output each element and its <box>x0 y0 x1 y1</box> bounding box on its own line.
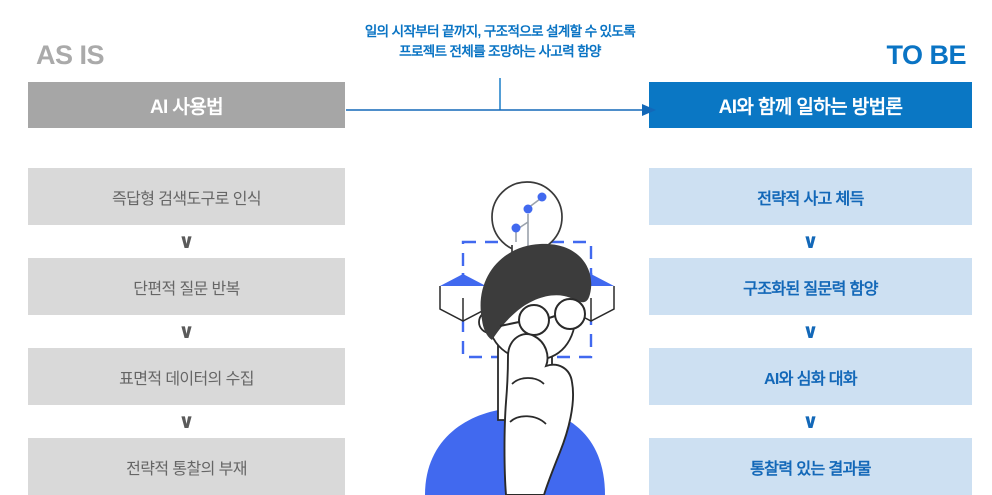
as-is-item-1: 즉답형 검색도구로 인식 <box>28 168 345 225</box>
as-is-flow-column: 즉답형 검색도구로 인식 ∨ 단편적 질문 반복 ∨ 표면적 데이터의 수집 ∨… <box>28 168 345 495</box>
to-be-flow-column: 전략적 사고 체득 ∨ 구조화된 질문력 함양 ∨ AI와 심화 대화 ∨ 통찰… <box>649 168 972 495</box>
to-be-header-bar: AI와 함께 일하는 방법론 <box>649 82 972 128</box>
as-is-item-4: 전략적 통찰의 부재 <box>28 438 345 495</box>
to-be-item-4: 통찰력 있는 결과물 <box>649 438 972 495</box>
chevron-down-icon: ∨ <box>28 405 345 438</box>
chevron-down-icon: ∨ <box>28 225 345 258</box>
thinking-person-illustration <box>400 170 640 495</box>
chevron-down-icon: ∨ <box>649 315 972 348</box>
center-note: 일의 시작부터 끝까지, 구조적으로 설계할 수 있도록 프로젝트 전체를 조망… <box>316 22 684 62</box>
chevron-down-icon: ∨ <box>28 315 345 348</box>
infographic-canvas: AS IS TO BE 일의 시작부터 끝까지, 구조적으로 설계할 수 있도록… <box>0 0 992 495</box>
as-is-item-3: 표면적 데이터의 수집 <box>28 348 345 405</box>
center-note-line-1: 일의 시작부터 끝까지, 구조적으로 설계할 수 있도록 <box>316 22 684 42</box>
transition-arrow <box>344 70 656 130</box>
as-is-header-label: AI 사용법 <box>150 92 223 119</box>
as-is-item-2: 단편적 질문 반복 <box>28 258 345 315</box>
arrow-head-icon <box>642 104 656 116</box>
to-be-header-label: AI와 함께 일하는 방법론 <box>719 92 903 119</box>
center-note-line-2: 프로젝트 전체를 조망하는 사고력 함양 <box>316 42 684 62</box>
to-be-item-1: 전략적 사고 체득 <box>649 168 972 225</box>
cube-left-icon <box>440 273 486 321</box>
chevron-down-icon: ∨ <box>649 405 972 438</box>
to-be-item-2: 구조화된 질문력 함양 <box>649 258 972 315</box>
to-be-item-3: AI와 심화 대화 <box>649 348 972 405</box>
chevron-down-icon: ∨ <box>649 225 972 258</box>
as-is-header-bar: AI 사용법 <box>28 82 345 128</box>
